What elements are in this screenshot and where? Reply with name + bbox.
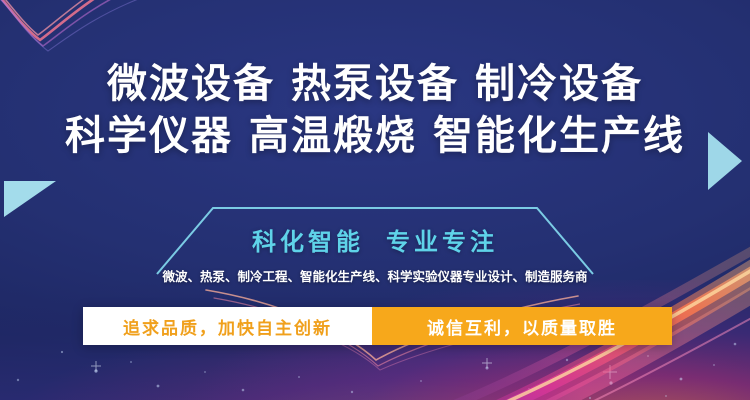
tagline-bar-left: 追求品质，加快自主创新	[83, 307, 372, 345]
slogan-text: 科化智能专业专注	[0, 222, 750, 257]
tagline-bars: 追求品质，加快自主创新 诚信互利，以质量取胜	[83, 307, 672, 345]
headline-term-2: 热泵设备	[291, 62, 459, 106]
slogan-left: 科化智能	[252, 229, 364, 256]
tagline-right-label: 诚信互利，以质量取胜	[427, 314, 617, 339]
slogan-block: 科化智能专业专注 微波、热泵、制冷工程、智能化生产线、科学实验仪器专业设计、制造…	[0, 204, 750, 294]
headline-term-4: 科学仪器	[65, 114, 233, 158]
headline-term-6: 智能化生产线	[433, 114, 685, 158]
page-title: 微波设备热泵设备制冷设备 科学仪器高温煅烧智能化生产线	[0, 58, 750, 162]
slogan-right: 专业专注	[386, 229, 498, 256]
headline-term-5: 高温煅烧	[249, 114, 417, 158]
tagline-left-label: 追求品质，加快自主创新	[123, 314, 332, 339]
subtitle-text: 微波、热泵、制冷工程、智能化生产线、科学实验仪器专业设计、制造服务商	[0, 266, 750, 285]
headline-term-1: 微波设备	[107, 62, 275, 106]
headline-line-1: 微波设备热泵设备制冷设备	[0, 58, 750, 110]
tagline-bar-right: 诚信互利，以质量取胜	[372, 307, 672, 345]
headline-line-2: 科学仪器高温煅烧智能化生产线	[0, 110, 750, 162]
headline-term-3: 制冷设备	[475, 62, 643, 106]
promo-banner: 微波设备热泵设备制冷设备 科学仪器高温煅烧智能化生产线 科化智能专业专注 微波、…	[0, 0, 750, 400]
